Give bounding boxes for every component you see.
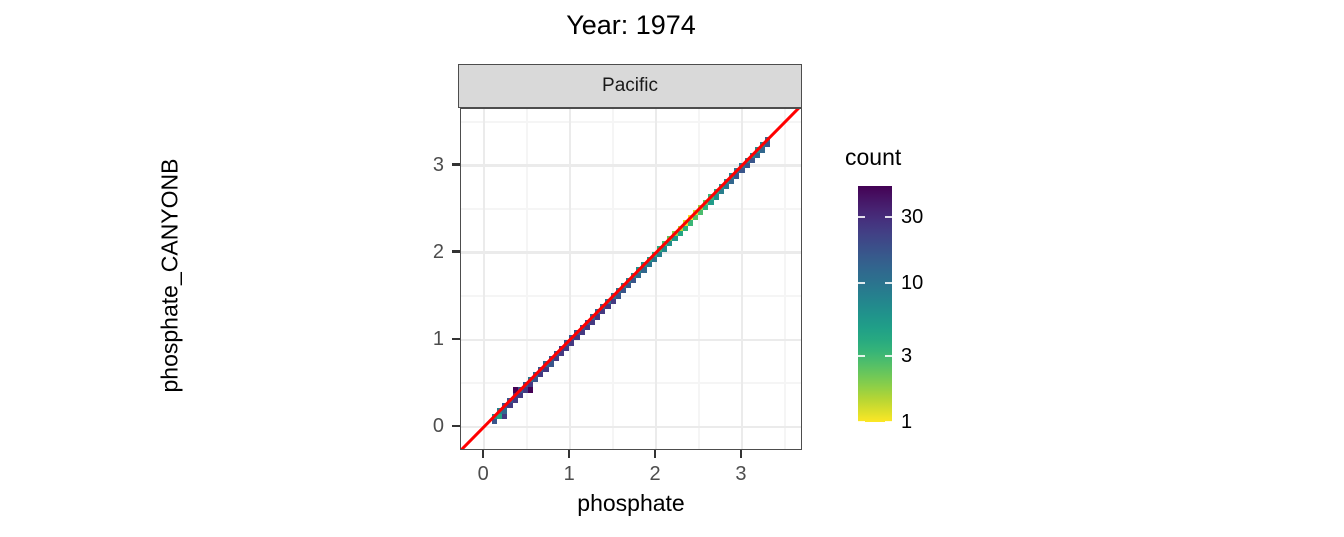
heatmap-bin [719, 189, 724, 194]
y-tick-label: 0 [0, 416, 444, 436]
heatmap-bin [662, 246, 667, 251]
heatmap-bin [513, 398, 518, 403]
heatmap-bin [724, 184, 729, 189]
heatmap-bin [714, 194, 719, 199]
heatmap-bin [631, 278, 636, 283]
gridline-major-horizontal [461, 426, 801, 428]
heatmap-bin [647, 262, 652, 267]
heatmap-bin [641, 267, 646, 272]
heatmap-bin [502, 408, 507, 413]
heatmap-bin [533, 377, 538, 382]
legend-tick-label: 3 [901, 346, 912, 366]
legend-tick-mark [885, 282, 892, 284]
y-tick-label: 3 [0, 155, 444, 175]
heatmap-bin [621, 288, 626, 293]
x-tick-label: 1 [539, 464, 599, 484]
chart-figure: Year: 1974 Pacific phosphate phosphate_C… [0, 0, 1344, 537]
heatmap-bin [652, 257, 657, 262]
heatmap-bin [518, 393, 523, 398]
heatmap-bin [564, 346, 569, 351]
x-tick-label: 2 [625, 464, 685, 484]
legend-tick-mark [858, 216, 865, 218]
y-tick-label: 2 [0, 242, 444, 262]
gridline-major-vertical [483, 109, 485, 449]
heatmap-bin [745, 163, 750, 168]
heatmap-bin [559, 351, 564, 356]
heatmap-bin [755, 153, 760, 158]
heatmap-bin [569, 340, 574, 345]
gridline-major-horizontal [461, 251, 801, 253]
legend-colorbar [858, 186, 892, 422]
gridline-major-vertical [741, 109, 743, 449]
legend-tick-mark [885, 421, 892, 423]
legend-title: count [845, 144, 901, 171]
heatmap-bin [507, 403, 512, 408]
plot-panel-inner [461, 109, 801, 449]
heatmap-bin [693, 215, 698, 220]
legend-tick-label: 30 [901, 207, 923, 227]
heatmap-bin [492, 419, 497, 424]
x-tick-mark [482, 450, 484, 458]
heatmap-bin [611, 299, 616, 304]
heatmap-bin [703, 205, 708, 210]
heatmap-bin [765, 142, 770, 147]
gridline-major-horizontal [461, 339, 801, 341]
gridline-minor-vertical [526, 109, 527, 449]
y-tick-mark [452, 250, 460, 252]
heatmap-bin [657, 252, 662, 257]
heatmap-bin [672, 236, 677, 241]
page-title: Year: 1974 [462, 10, 800, 40]
x-tick-mark [740, 450, 742, 458]
y-tick-label: 1 [0, 329, 444, 349]
legend-tick-label: 1 [901, 412, 912, 432]
heatmap-bin [760, 147, 765, 152]
legend-tick-mark [885, 216, 892, 218]
heatmap-bin [688, 220, 693, 225]
legend-gradient [858, 186, 892, 422]
gridline-minor-horizontal [461, 121, 801, 122]
heatmap-bin [538, 372, 543, 377]
heatmap-bin [678, 231, 683, 236]
heatmap-bin [765, 137, 770, 142]
gridline-minor-vertical [698, 109, 699, 449]
heatmap-bin [580, 330, 585, 335]
legend-tick-mark [858, 355, 865, 357]
heatmap-bin [502, 414, 507, 419]
heatmap-bin [750, 158, 755, 163]
gridline-minor-horizontal [461, 382, 801, 383]
gridline-major-vertical [569, 109, 571, 449]
heatmap-bin [554, 356, 559, 361]
gridline-major-horizontal [461, 164, 801, 166]
facet-strip: Pacific [458, 64, 802, 108]
x-tick-mark [654, 450, 656, 458]
x-tick-label: 3 [711, 464, 771, 484]
heatmap-bin [549, 361, 554, 366]
plot-panel [460, 108, 802, 450]
heatmap-bin [636, 273, 641, 278]
gridline-major-vertical [655, 109, 657, 449]
heatmap-bin [708, 200, 713, 205]
legend-tick-mark [885, 355, 892, 357]
heatmap-bin [626, 283, 631, 288]
y-tick-mark [452, 163, 460, 165]
heatmap-bin [734, 173, 739, 178]
heatmap-bin [585, 325, 590, 330]
x-tick-mark [568, 450, 570, 458]
y-tick-mark [452, 338, 460, 340]
legend-tick-mark [858, 282, 865, 284]
y-tick-mark [452, 425, 460, 427]
heatmap-bin [729, 179, 734, 184]
facet-strip-label: Pacific [459, 65, 801, 107]
heatmap-bin [600, 309, 605, 314]
heatmap-bin [590, 320, 595, 325]
x-axis-title: phosphate [460, 490, 802, 517]
x-tick-label: 0 [453, 464, 513, 484]
gridline-minor-vertical [612, 109, 613, 449]
legend-tick-mark [858, 421, 865, 423]
heatmap-bin [528, 382, 533, 387]
heatmap-bin [698, 210, 703, 215]
heatmap-bin [667, 241, 672, 246]
gridline-minor-horizontal [461, 295, 801, 296]
gridline-minor-vertical [784, 109, 785, 449]
heatmap-bin [616, 293, 621, 298]
legend-tick-label: 10 [901, 273, 923, 293]
heatmap-bin [574, 335, 579, 340]
heatmap-bin [739, 168, 744, 173]
heatmap-bin [605, 304, 610, 309]
gridline-minor-horizontal [461, 208, 801, 209]
heatmap-bin [683, 226, 688, 231]
heatmap-bin [595, 314, 600, 319]
heatmap-bin [543, 367, 548, 372]
heatmap-bin [528, 387, 533, 392]
